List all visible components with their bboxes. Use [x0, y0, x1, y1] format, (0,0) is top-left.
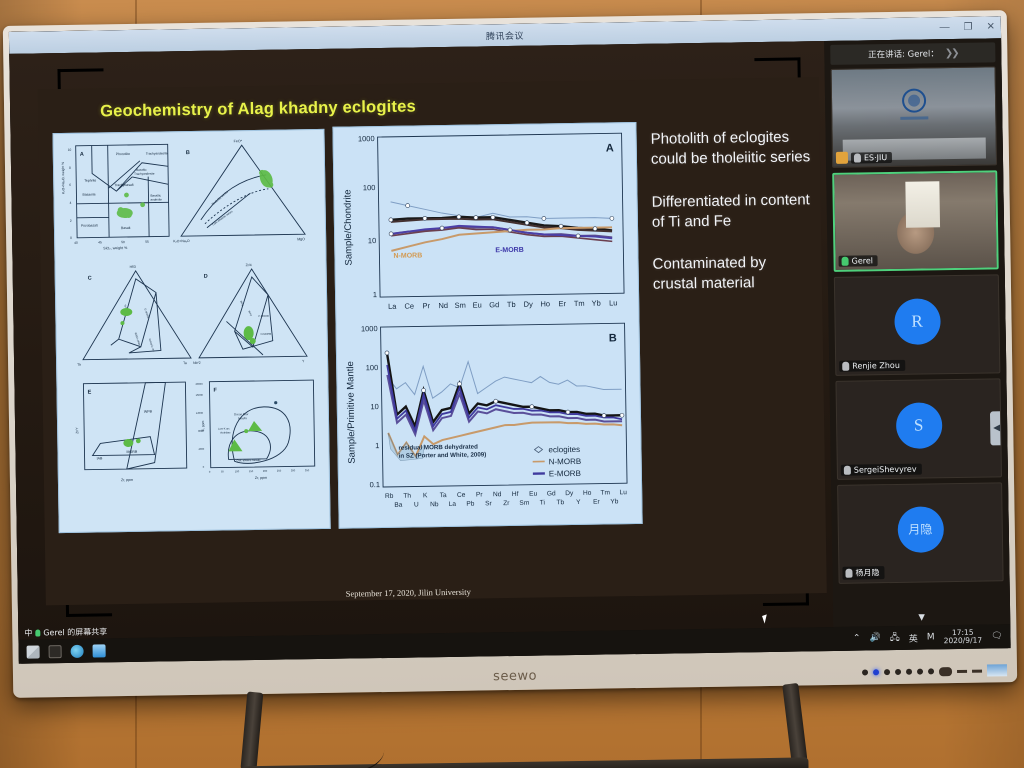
svg-text:Th: Th — [77, 363, 81, 367]
indicator-dot — [917, 669, 923, 675]
avatar: S — [895, 402, 942, 449]
svg-text:Y: Y — [302, 359, 305, 363]
svg-text:Tm: Tm — [574, 299, 585, 308]
participant-tile-room[interactable]: ES·JIU — [831, 66, 998, 168]
svg-text:Tholeiitic series: Tholeiitic series — [211, 190, 230, 207]
svg-text:Y: Y — [576, 499, 581, 506]
tas-diagram: A Phonolite Trachyandesite Basaltic Trac… — [61, 144, 170, 251]
svg-text:Trachyandesite: Trachyandesite — [146, 151, 168, 155]
svg-text:200: 200 — [263, 469, 268, 473]
app-icon[interactable] — [93, 644, 106, 657]
svg-text:Yb: Yb — [610, 498, 619, 505]
svg-text:1000: 1000 — [361, 324, 378, 333]
taskbar-icon-group[interactable] — [19, 644, 106, 658]
svg-text:Tb: Tb — [507, 300, 516, 309]
slide-footer: September 17, 2020, Jilin University — [346, 587, 471, 599]
svg-text:Dy: Dy — [524, 300, 534, 309]
mic-muted-icon — [842, 362, 849, 371]
svg-text:D: D — [204, 274, 208, 280]
notification-icon[interactable]: 🗨 — [991, 631, 1003, 641]
svg-text:4000: 4000 — [198, 447, 204, 451]
indicator-dot — [928, 668, 934, 674]
svg-text:Zr: Zr — [503, 500, 510, 507]
side-logo — [987, 664, 1007, 676]
mouse-cursor — [762, 614, 769, 623]
participant-name: SergeiShevyrev — [854, 465, 917, 475]
svg-text:350: 350 — [305, 468, 310, 472]
bullet-item: Photolith of eclogites could be tholeiit… — [650, 127, 811, 170]
svg-text:Ho: Ho — [583, 490, 592, 497]
svg-text:45: 45 — [98, 240, 102, 244]
svg-text:andesite: andesite — [150, 197, 162, 201]
svg-text:100: 100 — [235, 469, 240, 473]
svg-text:Sm: Sm — [455, 301, 466, 310]
indicator-dot — [906, 669, 912, 675]
power-indicator-icon — [873, 669, 879, 675]
institution-logo-icon — [893, 84, 934, 125]
svg-text:E-MORB: E-MORB — [549, 469, 581, 479]
svg-text:2: 2 — [70, 219, 72, 223]
svg-text:Calc-alkaline series: Calc-alkaline series — [211, 209, 234, 226]
svg-text:N-MORB: N-MORB — [549, 457, 582, 467]
svg-text:10: 10 — [370, 402, 378, 411]
svg-text:Ta: Ta — [183, 361, 187, 365]
svg-text:4: 4 — [70, 201, 72, 205]
hf-th-ta-ternary-diagram: C Hf/3 Th Ta N-MORB E-MORB Within plate — [76, 264, 192, 367]
mic-muted-icon — [844, 466, 851, 475]
svg-text:Zr, ppm: Zr, ppm — [255, 476, 267, 480]
participant-name: 杨月隐 — [855, 567, 879, 578]
svg-text:100: 100 — [366, 363, 379, 372]
svg-text:Zr/4: Zr/4 — [246, 263, 252, 267]
svg-text:A: A — [80, 152, 84, 158]
svg-text:K₂O+Na₂O: K₂O+Na₂O — [173, 239, 190, 243]
svg-text:Tephrite: Tephrite — [84, 178, 96, 182]
svg-text:IAB: IAB — [97, 456, 103, 460]
network-icon[interactable]: 🖧 — [890, 630, 900, 646]
svg-text:E-MORB: E-MORB — [143, 308, 150, 319]
svg-text:20000: 20000 — [195, 382, 203, 386]
svg-text:SiO₂, weight %: SiO₂, weight % — [103, 246, 128, 250]
zr-nb-y-ternary-diagram: D Zr/4 Nb*2 Y WPA WPT P-MORB — [192, 262, 308, 365]
svg-text:Basalt: Basalt — [121, 226, 131, 230]
start-icon[interactable] — [27, 645, 40, 658]
svg-text:tholeiites: tholeiites — [220, 430, 231, 434]
svg-text:40: 40 — [74, 241, 78, 245]
participant-tile-yueyin[interactable]: 月隐 杨月隐 — [837, 482, 1004, 584]
host-badge-icon — [836, 152, 848, 164]
ime-indicator-icon: 中 — [24, 628, 32, 639]
svg-text:1000: 1000 — [358, 134, 375, 143]
svg-text:Pr: Pr — [476, 491, 484, 498]
taskbar-clock[interactable]: 17:15 2020/9/17 — [943, 629, 982, 645]
participant-name: Gerel — [852, 256, 874, 265]
participant-nametag: ES·JIU — [851, 152, 892, 164]
ir-sensor-icon — [972, 669, 982, 672]
share-notice-text: Gerel 的屏幕共享 — [43, 626, 107, 638]
participant-tile-renjie-zhou[interactable]: R Renjie Zhou — [834, 274, 1001, 376]
svg-text:Lu: Lu — [609, 298, 617, 307]
svg-text:0: 0 — [70, 236, 72, 240]
window-title: 腾讯会议 — [486, 28, 524, 42]
svg-text:F: F — [213, 388, 217, 394]
e-morb-label-a: E-MORB — [495, 247, 523, 254]
participant-name: ES·JIU — [864, 153, 887, 162]
slide-title: Geochemistry of Alag khadny eclogites — [100, 97, 416, 121]
participant-nametag: 杨月隐 — [842, 566, 884, 580]
svg-text:Zr, ppm: Zr, ppm — [121, 478, 133, 482]
scroll-down-button[interactable]: ▼ — [833, 610, 1010, 625]
window-controls[interactable]: — ❐ ✕ — [939, 16, 995, 39]
svg-text:Sample/Chondrite: Sample/Chondrite — [342, 189, 354, 265]
indicator-dot — [895, 669, 901, 675]
svg-text:8: 8 — [69, 166, 71, 170]
meeting-stage: Geochemistry of Alag khadny eclogites A — [9, 38, 1010, 640]
svg-text:MORB: MORB — [126, 450, 137, 454]
svg-text:Th: Th — [403, 493, 411, 500]
svg-text:K: K — [423, 492, 428, 499]
screen-content: 腾讯会议 — ❐ ✕ Geochemistr — [9, 16, 1011, 664]
svg-text:A: A — [606, 142, 614, 154]
avatar: 月隐 — [897, 506, 944, 553]
onedrive-icon[interactable]: M — [927, 632, 935, 642]
clock-date: 2020/9/17 — [944, 636, 983, 646]
participant-name: Renjie Zhou — [852, 361, 900, 371]
svg-text:Nd: Nd — [438, 301, 448, 310]
svg-text:Rb: Rb — [385, 493, 394, 500]
svg-text:16000: 16000 — [196, 393, 204, 397]
svg-text:Gd: Gd — [547, 490, 556, 497]
svg-text:La: La — [449, 501, 457, 508]
bullet-item: Differentiated in content of Ti and Fe — [651, 190, 812, 233]
active-speaker-bar: 正在讲话: Gerel： ❯❯ — [830, 42, 995, 65]
svg-text:Nd: Nd — [493, 491, 502, 498]
svg-text:1: 1 — [373, 290, 377, 299]
svg-text:Trachybasalt: Trachybasalt — [114, 183, 133, 187]
svg-text:B: B — [186, 150, 190, 156]
participant-tile-gerel[interactable]: Gerel — [832, 170, 999, 272]
svg-text:Ho: Ho — [540, 299, 550, 308]
participant-nametag: SergeiShevyrev — [841, 464, 922, 476]
svg-text:La: La — [388, 302, 397, 311]
power-button[interactable] — [939, 667, 952, 676]
volume-icon[interactable]: 🔊 — [869, 633, 880, 643]
svg-text:Trachyandesite: Trachyandesite — [134, 172, 155, 176]
svg-text:Hf: Hf — [512, 491, 519, 498]
svg-text:Hf/3: Hf/3 — [130, 265, 136, 269]
svg-text:50: 50 — [121, 240, 125, 244]
svg-text:8000: 8000 — [198, 429, 204, 433]
svg-text:B: B — [609, 332, 617, 344]
task-view-icon[interactable] — [49, 645, 62, 658]
svg-text:Volcanic arc: Volcanic arc — [148, 338, 157, 353]
svg-text:WPT: WPT — [247, 310, 253, 317]
svg-text:eclogites: eclogites — [548, 445, 580, 454]
svg-text:C: C — [88, 276, 92, 282]
svg-text:U: U — [414, 501, 419, 508]
ime-icon[interactable]: 英 — [909, 631, 918, 644]
figure-panel-spider-diagrams: A Sample/Chondrite 1000 100 10 1 — [332, 122, 642, 529]
svg-text:10: 10 — [368, 236, 376, 245]
svg-text:0: 0 — [203, 465, 205, 469]
svg-text:Lu: Lu — [619, 489, 627, 496]
display-bezel: 腾讯会议 — ❐ ✕ Geochemistr — [3, 10, 1017, 698]
svg-text:FeO*: FeO* — [234, 139, 243, 143]
svg-text:55: 55 — [145, 240, 149, 244]
svg-text:K₂O+Na₂O, weight %: K₂O+Na₂O, weight % — [61, 162, 66, 194]
svg-text:N-MORB: N-MORB — [261, 332, 272, 336]
figure-panel-discrimination-diagrams: A Phonolite Trachyandesite Basaltic Trac… — [52, 129, 330, 533]
svg-text:Ce: Ce — [404, 302, 414, 311]
svg-text:Picrobasalt: Picrobasalt — [81, 223, 98, 227]
chevron-up-icon[interactable]: ⌃ — [853, 634, 861, 644]
svg-text:300: 300 — [291, 468, 296, 472]
maximize-button[interactable]: ❐ — [963, 23, 972, 33]
shared-screen-region[interactable]: Geochemistry of Alag khadny eclogites A — [9, 41, 833, 640]
participant-nametag: Gerel — [838, 255, 878, 267]
active-speaker-label: 正在讲话: Gerel： — [868, 47, 939, 60]
svg-text:150: 150 — [249, 469, 254, 473]
indicator-dot — [884, 669, 890, 675]
svg-text:Nb*2: Nb*2 — [193, 361, 201, 365]
svg-text:Tm: Tm — [600, 489, 610, 496]
svg-text:Sr: Sr — [485, 500, 493, 507]
bullet-item: Contaminated by crustal material — [652, 252, 813, 295]
svg-text:Er: Er — [558, 299, 566, 308]
presentation-slide: Geochemistry of Alag khadny eclogites A — [38, 77, 827, 605]
svg-text:Dy: Dy — [565, 490, 574, 497]
svg-text:50: 50 — [221, 470, 225, 474]
participant-nametag: Renjie Zhou — [839, 360, 905, 372]
collapse-rail-button[interactable]: ◀ — [990, 411, 1002, 445]
svg-text:Ta: Ta — [440, 492, 447, 499]
svg-text:Sample/Primitive Mantle: Sample/Primitive Mantle — [345, 361, 358, 464]
ti-vs-zr-diagram: F Ocean floor basalts Low-K arc tholeiit… — [195, 380, 315, 481]
svg-text:MgO: MgO — [297, 237, 305, 241]
svg-text:Ti: Ti — [540, 499, 546, 506]
participant-rail: 正在讲话: Gerel： ❯❯ — [824, 38, 1010, 627]
svg-text:Pr: Pr — [422, 301, 430, 310]
power-cable — [314, 734, 385, 768]
display-panel: 腾讯会议 — ❐ ✕ Geochemistr — [9, 16, 1011, 664]
mic-active-icon — [842, 257, 849, 266]
svg-text:100: 100 — [363, 183, 376, 192]
ir-sensor-icon — [957, 669, 967, 672]
svg-text:250: 250 — [277, 469, 282, 473]
svg-text:1: 1 — [375, 441, 379, 450]
svg-text:Nb: Nb — [430, 501, 439, 508]
svg-text:Yb: Yb — [592, 299, 601, 308]
svg-text:Eu: Eu — [529, 491, 538, 498]
mic-muted-icon — [854, 153, 861, 162]
svg-text:Ce: Ce — [457, 492, 466, 499]
svg-text:Gd: Gd — [489, 300, 499, 309]
participant-tile-sergei-shevyrev[interactable]: S SergeiShevyrev ◀ — [835, 378, 1002, 480]
mic-muted-icon — [845, 569, 852, 578]
svg-text:basalts: basalts — [238, 416, 248, 420]
svg-text:WPB: WPB — [144, 410, 153, 414]
n-morb-label-a: N-MORB — [393, 252, 422, 259]
svg-text:Calc-alkaline basalts: Calc-alkaline basalts — [237, 458, 262, 462]
svg-text:Sm: Sm — [519, 500, 530, 507]
edge-icon[interactable] — [71, 644, 84, 657]
svg-text:P-MORB: P-MORB — [258, 314, 269, 318]
chart-b-annotation-line1: residual MORB dehydrated — [398, 444, 478, 452]
chevron-right-icon: ❯❯ — [945, 47, 958, 58]
interactive-display: 腾讯会议 — ❐ ✕ Geochemistr — [3, 10, 1017, 698]
afm-ternary-diagram: B FeO* K₂O+Na₂O MgO Tholeiitic series — [172, 138, 306, 243]
svg-text:6: 6 — [69, 183, 71, 187]
window-light — [905, 181, 940, 228]
svg-text:Phonolite: Phonolite — [116, 152, 130, 156]
svg-text:Zr/Y: Zr/Y — [75, 427, 79, 434]
chart-a-ree-spider: A Sample/Chondrite 1000 100 10 1 — [342, 130, 625, 311]
svg-text:Tb: Tb — [556, 499, 564, 506]
svg-text:Basanite: Basanite — [82, 192, 95, 196]
avatar: R — [894, 298, 941, 345]
svg-text:0: 0 — [209, 470, 211, 474]
svg-text:Eu: Eu — [473, 300, 482, 309]
chart-b-multielement-spider: B Sample/Primitive Mantle 1000 100 10 1 … — [345, 320, 628, 509]
svg-text:Low-K arc: Low-K arc — [218, 426, 230, 430]
chart-b-annotation-line2: in SZ (Porter and White, 2009) — [399, 451, 487, 459]
close-button[interactable]: ✕ — [986, 22, 995, 32]
mic-icon — [35, 629, 40, 636]
display-indicator-bar — [862, 664, 1007, 678]
minimize-button[interactable]: — — [939, 23, 949, 33]
svg-text:12000: 12000 — [196, 411, 204, 415]
svg-text:E: E — [88, 390, 92, 396]
zr-y-vs-zr-diagram: E WPB MORB IAB Zr/Y Zr, ppm — [74, 382, 187, 483]
svg-text:Ba: Ba — [394, 502, 403, 509]
svg-text:Er: Er — [593, 499, 601, 506]
svg-text:Pb: Pb — [466, 501, 475, 508]
system-tray[interactable]: ⌃ 🔊 🖧 英 M 17:15 2020/9/17 🗨 — [853, 628, 1011, 646]
slide-bullet-list: Photolith of eclogites could be tholeiit… — [650, 127, 813, 317]
chart-b-legend: eclogites N-MORB E-MORB — [532, 445, 581, 479]
svg-text:0.1: 0.1 — [370, 480, 381, 489]
indicator-dot — [862, 669, 868, 675]
screen-share-notice: 中 Gerel 的屏幕共享 — [24, 626, 107, 638]
svg-text:10: 10 — [68, 148, 72, 152]
